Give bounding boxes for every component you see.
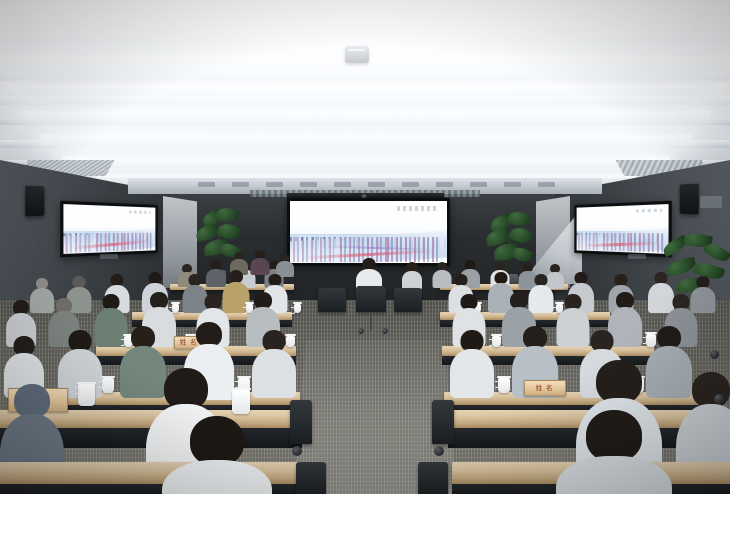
- chair-caster-icon: [434, 446, 444, 456]
- soffit-vent: [368, 182, 385, 187]
- chair: [296, 462, 326, 494]
- chair: [290, 400, 312, 444]
- main-led-wall[interactable]: [287, 198, 450, 266]
- ceiling-band: [0, 74, 730, 81]
- attendee: [276, 254, 294, 276]
- ceiling-projector-icon: [345, 46, 369, 63]
- ceiling-light-strip: [62, 156, 670, 161]
- page-margin: [0, 494, 730, 548]
- soffit-vent: [436, 182, 453, 187]
- wall-speaker-left: [25, 186, 44, 217]
- conference-room-photo: 姓 名: [0, 0, 730, 494]
- attendee: [250, 250, 269, 274]
- cityscape-render: [290, 201, 447, 263]
- soffit-vent: [538, 182, 555, 187]
- mug: [498, 378, 510, 393]
- wall-speaker-right: [680, 184, 699, 215]
- soffit-vent: [232, 182, 249, 187]
- attendee: [450, 330, 494, 396]
- soffit-vent: [470, 182, 487, 187]
- attendee: [252, 330, 296, 396]
- chair: [432, 400, 454, 444]
- attendee-foreground-bottom-right: [556, 410, 672, 494]
- chair-caster-icon: [382, 328, 388, 334]
- mug: [232, 390, 250, 414]
- mug: [102, 378, 114, 393]
- left-side-screen[interactable]: [60, 201, 158, 258]
- ceiling-light-strip: [6, 84, 726, 90]
- soffit-vent: [504, 182, 521, 187]
- soffit-vent: [334, 182, 351, 187]
- cityscape-render: [63, 204, 155, 254]
- cityscape-render: [577, 204, 669, 254]
- soffit-vent: [198, 182, 215, 187]
- mug: [294, 304, 301, 313]
- ceiling-light-strip: [40, 134, 692, 139]
- chair-caster-icon: [358, 328, 364, 334]
- chair: [318, 288, 346, 312]
- right-side-screen[interactable]: [574, 201, 672, 258]
- ceiling-band: [0, 96, 730, 105]
- chair: [356, 286, 386, 312]
- attendee: [402, 262, 422, 288]
- screenshot-root: 姓 名: [0, 0, 730, 548]
- soffit-vent: [266, 182, 283, 187]
- soffit-vent: [300, 182, 317, 187]
- nameplate: 姓 名: [524, 380, 566, 396]
- chair-caster-icon: [714, 394, 724, 404]
- screen-panel-label: [628, 254, 646, 259]
- screen-watermark: [129, 210, 151, 214]
- ceiling-band: [0, 140, 730, 148]
- ceiling: [0, 0, 730, 196]
- chair-caster-icon: [710, 350, 719, 359]
- chair: [394, 288, 422, 312]
- wall-sign: [700, 196, 722, 208]
- soffit-vent: [402, 182, 419, 187]
- screen-watermark: [636, 208, 662, 213]
- ceiling-band: [0, 118, 730, 125]
- ceiling-light-strip: [22, 110, 710, 116]
- screen-watermark: [397, 206, 438, 211]
- attendee-foreground-bottom-left: [162, 416, 272, 494]
- screen-panel-label: [100, 254, 118, 259]
- chair: [418, 462, 448, 494]
- mug: [78, 384, 95, 406]
- chair-caster-icon: [292, 446, 302, 456]
